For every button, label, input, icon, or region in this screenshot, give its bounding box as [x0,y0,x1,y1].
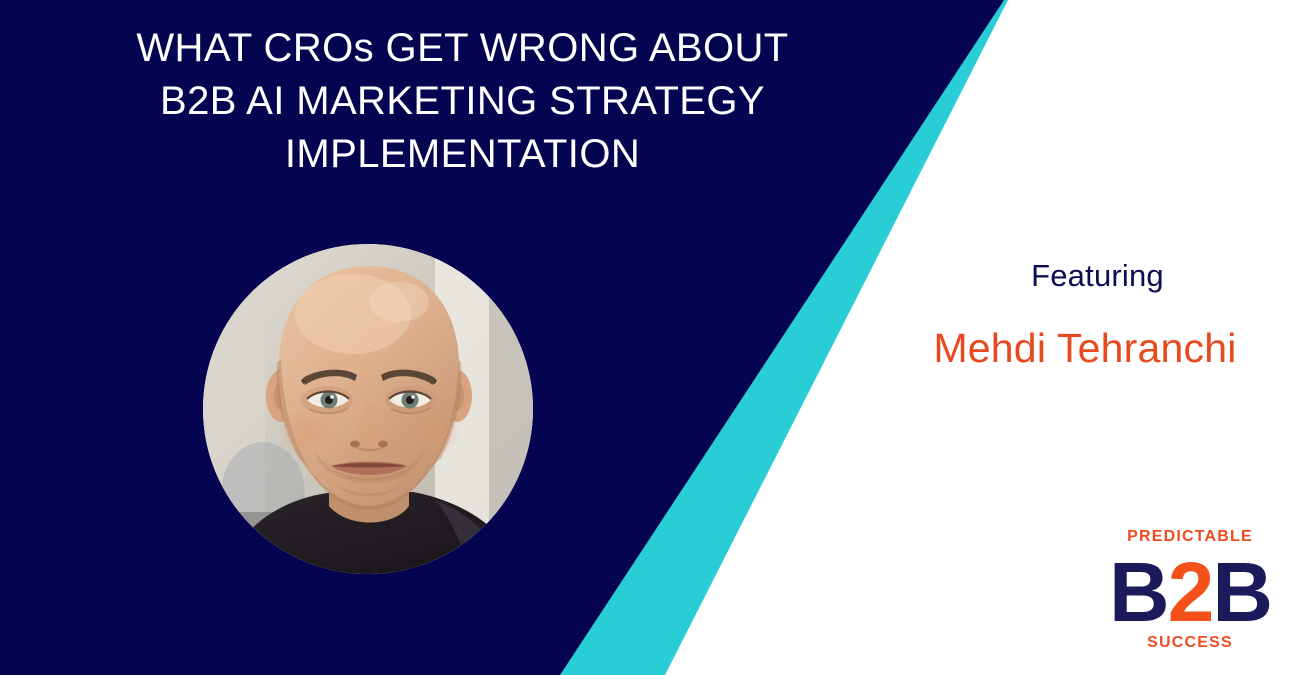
speaker-avatar [203,244,533,574]
logo-letter-b-right: B [1212,545,1271,639]
logo-top-word: PREDICTABLE [1095,528,1285,546]
page-title: WHAT CROs GET WRONG ABOUT B2B AI MARKETI… [0,22,925,181]
featuring-label: Featuring [905,258,1290,294]
webinar-title-slide: WHAT CROs GET WRONG ABOUT B2B AI MARKETI… [0,0,1290,675]
logo-brand-mark: B2B [1095,546,1285,638]
logo-letter-b-left: B [1109,545,1168,639]
speaker-name: Mehdi Tehranchi [880,325,1290,372]
logo-digit-two: 2 [1168,545,1213,639]
brand-logo: PREDICTABLE B2B SUCCESS [1095,528,1285,673]
